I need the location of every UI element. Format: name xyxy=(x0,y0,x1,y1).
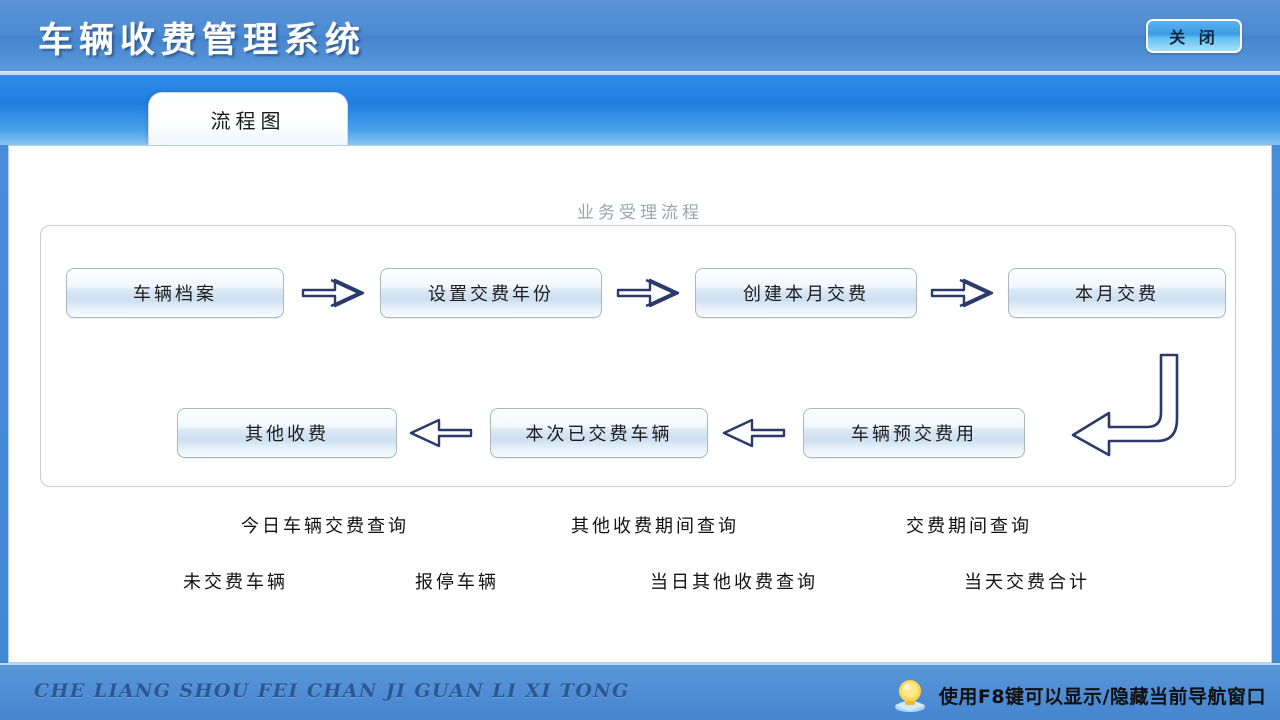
tab-strip: 流程图 xyxy=(0,76,1280,145)
lightbulb-icon xyxy=(889,677,931,713)
footer-bar: CHE LIANG SHOU FEI CHAN JI GUAN LI XI TO… xyxy=(0,663,1280,720)
arrow-right-icon-1 xyxy=(301,276,365,310)
application-window: 车辆收费管理系统 关 闭 流程图 业务受理流程 车辆档案 设置交费年份 创建本月… xyxy=(0,0,1280,720)
arrow-left-icon-1 xyxy=(407,416,473,450)
flow-button-month-payment[interactable]: 本月交费 xyxy=(1008,268,1226,318)
query-link-suspended-vehicles[interactable]: 报停车辆 xyxy=(415,568,499,594)
footer-pinyin-text: CHE LIANG SHOU FEI CHAN JI GUAN LI XI TO… xyxy=(34,680,630,702)
app-title: 车辆收费管理系统 xyxy=(38,12,366,63)
flow-button-paid-vehicles[interactable]: 本次已交费车辆 xyxy=(490,408,708,458)
flow-button-prepaid-fees[interactable]: 车辆预交费用 xyxy=(803,408,1025,458)
flow-button-create-month-payment[interactable]: 创建本月交费 xyxy=(695,268,917,318)
content-panel: 业务受理流程 车辆档案 设置交费年份 创建本月交费 本月交费 xyxy=(8,145,1272,663)
hint-text: 使用F8键可以显示/隐藏当前导航窗口 xyxy=(939,682,1266,709)
panel-caption: 业务受理流程 xyxy=(9,198,1271,223)
query-link-today-payment-total[interactable]: 当天交费合计 xyxy=(964,568,1090,594)
query-link-payment-period[interactable]: 交费期间查询 xyxy=(906,512,1032,538)
flow-button-set-payment-year[interactable]: 设置交费年份 xyxy=(380,268,602,318)
arrow-right-icon-3 xyxy=(930,276,994,310)
arrow-left-icon-2 xyxy=(720,416,786,450)
query-link-other-fee-period[interactable]: 其他收费期间查询 xyxy=(571,512,739,538)
query-link-unpaid-vehicles[interactable]: 未交费车辆 xyxy=(183,568,288,594)
query-link-today-vehicle-payment[interactable]: 今日车辆交费查询 xyxy=(241,512,409,538)
arrow-right-icon-2 xyxy=(616,276,680,310)
flow-button-other-fees[interactable]: 其他收费 xyxy=(177,408,397,458)
arrow-elbow-down-left-icon xyxy=(1057,351,1183,457)
hint-area: 使用F8键可以显示/隐藏当前导航窗口 xyxy=(889,677,1266,713)
close-button[interactable]: 关 闭 xyxy=(1146,19,1242,53)
flow-button-vehicle-file[interactable]: 车辆档案 xyxy=(66,268,284,318)
query-link-today-other-fee[interactable]: 当日其他收费查询 xyxy=(650,568,818,594)
title-bar: 车辆收费管理系统 关 闭 xyxy=(0,0,1280,72)
tab-flowchart[interactable]: 流程图 xyxy=(148,92,348,145)
